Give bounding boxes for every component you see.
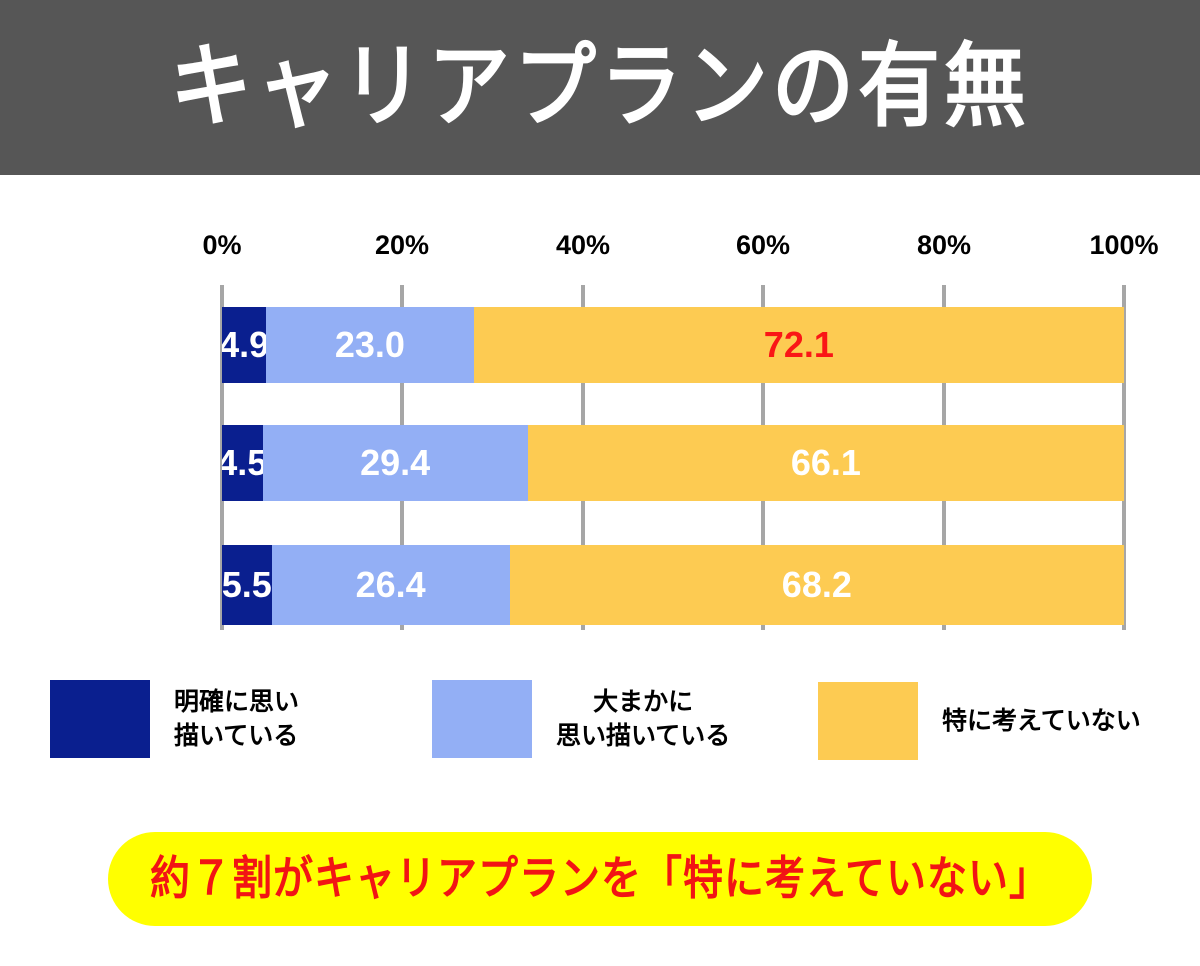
legend-label-line2: 思い描いている: [556, 719, 730, 753]
header-banner: キャリアプランの有無: [0, 0, 1200, 175]
bar-value-label: 5.5: [222, 567, 272, 603]
bar-segment-rough-plan[interactable]: 23.0: [266, 307, 474, 383]
callout-text: 約７割がキャリアプランを「特に考えていない」: [150, 856, 1050, 902]
legend-swatch-icon: [50, 680, 150, 758]
legend-label-line1: 明確に思い: [174, 685, 299, 719]
legend-label-clear-plan: 明確に思い 描いている: [174, 685, 299, 753]
bar-segment-no-plan[interactable]: 72.1: [474, 307, 1124, 383]
x-tick-label-20: 20%: [375, 230, 429, 261]
legend-label-no-plan: 特に考えていない: [942, 704, 1141, 738]
legend-label-rough-plan: 大まかに 思い描いている: [556, 685, 730, 753]
chart-legend: 明確に思い 描いている 大まかに 思い描いている 特に考えていない: [0, 660, 1200, 790]
bar-row-2021-10: 5.5 26.4 68.2: [222, 545, 1124, 625]
legend-swatch-icon: [432, 680, 532, 758]
x-tick-label-60: 60%: [736, 230, 790, 261]
bar-value-label: 23.0: [335, 327, 405, 363]
bar-segment-no-plan[interactable]: 66.1: [528, 425, 1124, 501]
legend-item-clear-plan[interactable]: 明確に思い 描いている: [50, 680, 299, 758]
x-tick-label-100: 100%: [1089, 230, 1158, 261]
bar-value-label: 4.9: [222, 327, 266, 363]
bar-value-label: 4.5: [222, 445, 263, 481]
bar-value-label: 68.2: [782, 567, 852, 603]
chart-area: 0% 20% 40% 60% 80% 100% 2023年7月 4.9 23.0…: [0, 175, 1200, 645]
x-axis-tick-labels: 0% 20% 40% 60% 80% 100%: [222, 230, 1124, 270]
legend-item-rough-plan[interactable]: 大まかに 思い描いている: [432, 680, 730, 758]
bar-value-label: 66.1: [791, 445, 861, 481]
legend-label-line1: 特に考えていない: [942, 704, 1141, 738]
bar-segment-clear-plan[interactable]: 5.5: [222, 545, 272, 625]
bar-value-label: 29.4: [360, 445, 430, 481]
bar-segment-clear-plan[interactable]: 4.9: [222, 307, 266, 383]
legend-swatch-icon: [818, 682, 918, 760]
bar-segment-clear-plan[interactable]: 4.5: [222, 425, 263, 501]
x-tick-label-40: 40%: [556, 230, 610, 261]
plot-area: 2023年7月 4.9 23.0 72.1 2022年1月 4.5 29.4 6…: [222, 285, 1124, 630]
bar-value-label: 26.4: [356, 567, 426, 603]
bar-segment-rough-plan[interactable]: 26.4: [272, 545, 510, 625]
bar-row-2023-07: 4.9 23.0 72.1: [222, 307, 1124, 383]
bar-value-label: 72.1: [764, 327, 834, 363]
bar-segment-no-plan[interactable]: 68.2: [510, 545, 1124, 625]
legend-label-line2: 描いている: [174, 719, 299, 753]
bar-row-2022-01: 4.5 29.4 66.1: [222, 425, 1124, 501]
bar-segment-rough-plan[interactable]: 29.4: [263, 425, 528, 501]
x-tick-label-80: 80%: [917, 230, 971, 261]
callout-banner: 約７割がキャリアプランを「特に考えていない」: [108, 832, 1092, 926]
legend-item-no-plan[interactable]: 特に考えていない: [818, 682, 1141, 760]
page-title: キャリアプランの有無: [170, 42, 1030, 134]
legend-label-line1: 大まかに: [556, 685, 730, 719]
x-tick-label-0: 0%: [202, 230, 241, 261]
